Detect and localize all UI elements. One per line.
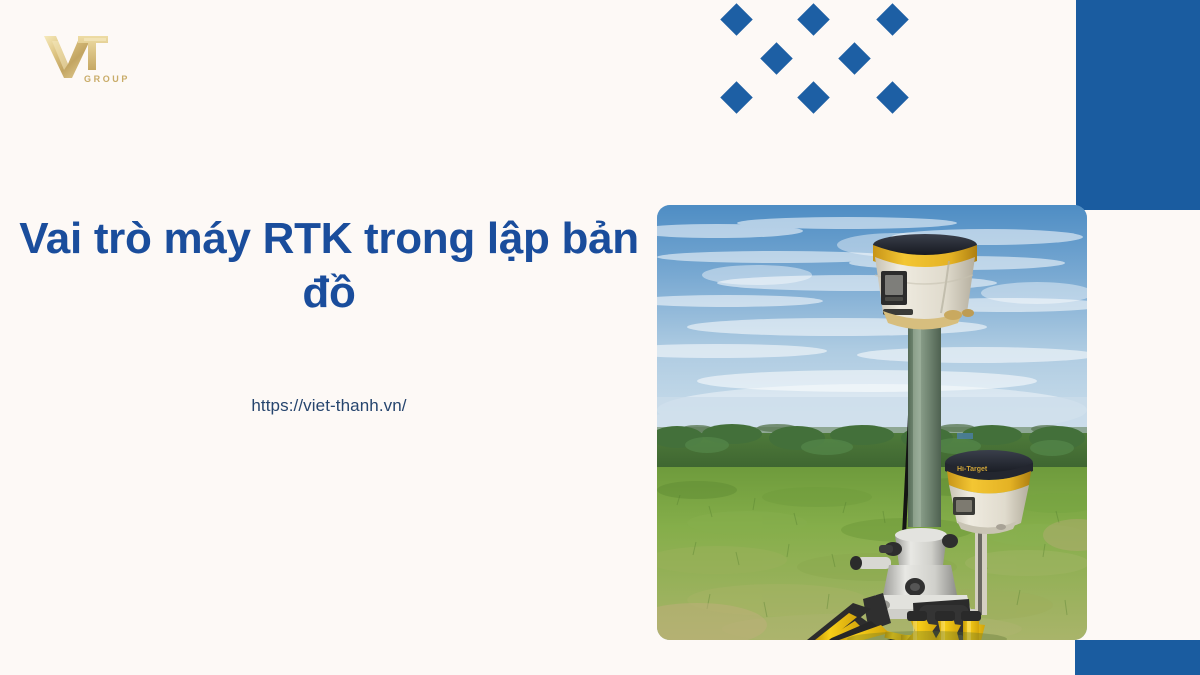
page-title: Vai trò máy RTK trong lập bản đồ (14, 212, 644, 319)
website-url[interactable]: https://viet-thanh.vn/ (14, 396, 644, 416)
diamond-icon (760, 42, 793, 75)
diamond-pattern (725, 0, 920, 115)
diamond-icon (797, 3, 830, 36)
diamond-icon (838, 42, 871, 75)
accent-block-top-right (1076, 0, 1200, 210)
diamond-icon (876, 81, 909, 114)
rtk-survey-photo-image: Hi-Target (657, 205, 1087, 640)
accent-block-bottom-right (1075, 640, 1200, 675)
slide-canvas: GROUP Vai trò máy RTK trong lập bản đồ h… (0, 0, 1200, 675)
svg-text:Hi-Target: Hi-Target (957, 466, 988, 473)
diamond-icon (720, 81, 753, 114)
diamond-icon (876, 3, 909, 36)
vt-group-logo[interactable]: GROUP (34, 30, 130, 86)
diamond-icon (720, 3, 753, 36)
svg-text:GROUP: GROUP (84, 74, 130, 84)
rtk-survey-photo: Hi-Target (657, 205, 1087, 640)
vt-group-logo-icon: GROUP (34, 30, 130, 86)
diamond-icon (797, 81, 830, 114)
